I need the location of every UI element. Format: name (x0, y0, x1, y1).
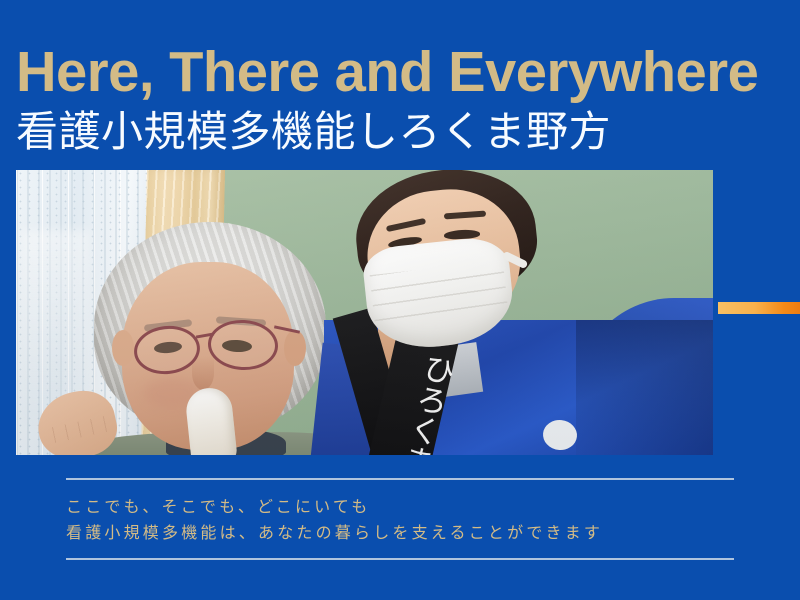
caption-line-1: ここでも、そこでも、どこにいても (66, 494, 734, 520)
accent-bar (718, 302, 800, 314)
elderly-woman-ear-left (112, 330, 134, 366)
caregiver-and-elderly-woman-photo: 白 ひろくま (16, 170, 713, 455)
elderly-woman-nose (192, 356, 214, 390)
page-subtitle-japanese: 看護小規模多機能しろくま野方 (16, 110, 786, 154)
caption-divider-bottom (66, 558, 734, 560)
caption-line-2: 看護小規模多機能は、あなたの暮らしを支えることができます (66, 520, 734, 546)
elderly-woman-ear-right (284, 330, 306, 366)
caption-block: ここでも、そこでも、どこにいても 看護小規模多機能は、あなたの暮らしを支えること… (66, 478, 734, 560)
headline-block: Here, There and Everywhere 看護小規模多機能しろくま野… (16, 44, 786, 154)
caption-divider-top (66, 478, 734, 480)
page-title-english: Here, There and Everywhere (16, 44, 774, 101)
happi-coat-shadow (576, 320, 713, 455)
caption-text: ここでも、そこでも、どこにいても 看護小規模多機能は、あなたの暮らしを支えること… (66, 480, 734, 558)
slide-root: Here, There and Everywhere 看護小規模多機能しろくま野… (0, 0, 800, 600)
